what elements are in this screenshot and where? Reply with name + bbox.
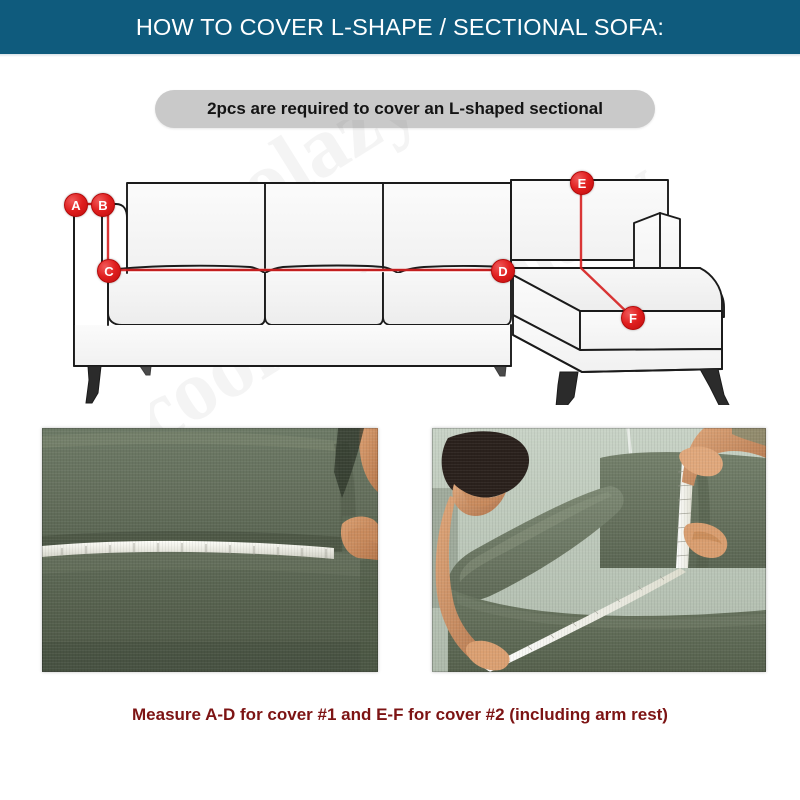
marker-c: C <box>97 259 121 283</box>
bottom-caption: Measure A-D for cover #1 and E-F for cov… <box>0 705 800 725</box>
marker-e: E <box>570 171 594 195</box>
marker-d: D <box>491 259 515 283</box>
sofa-body <box>74 180 724 372</box>
header-divider <box>0 54 800 57</box>
header-bar: HOW TO COVER L-SHAPE / SECTIONAL SOFA: <box>0 0 800 54</box>
infographic-page: HOW TO COVER L-SHAPE / SECTIONAL SOFA: 2… <box>0 0 800 800</box>
subtitle-pill: 2pcs are required to cover an L-shaped s… <box>155 90 655 128</box>
subtitle-pill-label: 2pcs are required to cover an L-shaped s… <box>207 99 603 119</box>
marker-a: A <box>64 193 88 217</box>
page-title: HOW TO COVER L-SHAPE / SECTIONAL SOFA: <box>136 14 664 41</box>
sofa-legs <box>86 366 730 405</box>
photo-measure-seat-depth <box>42 428 378 672</box>
marker-f: F <box>621 306 645 330</box>
marker-b: B <box>91 193 115 217</box>
photo-person-measuring-sofa <box>432 428 766 672</box>
sofa-diagram: A B C D E F <box>0 135 800 405</box>
